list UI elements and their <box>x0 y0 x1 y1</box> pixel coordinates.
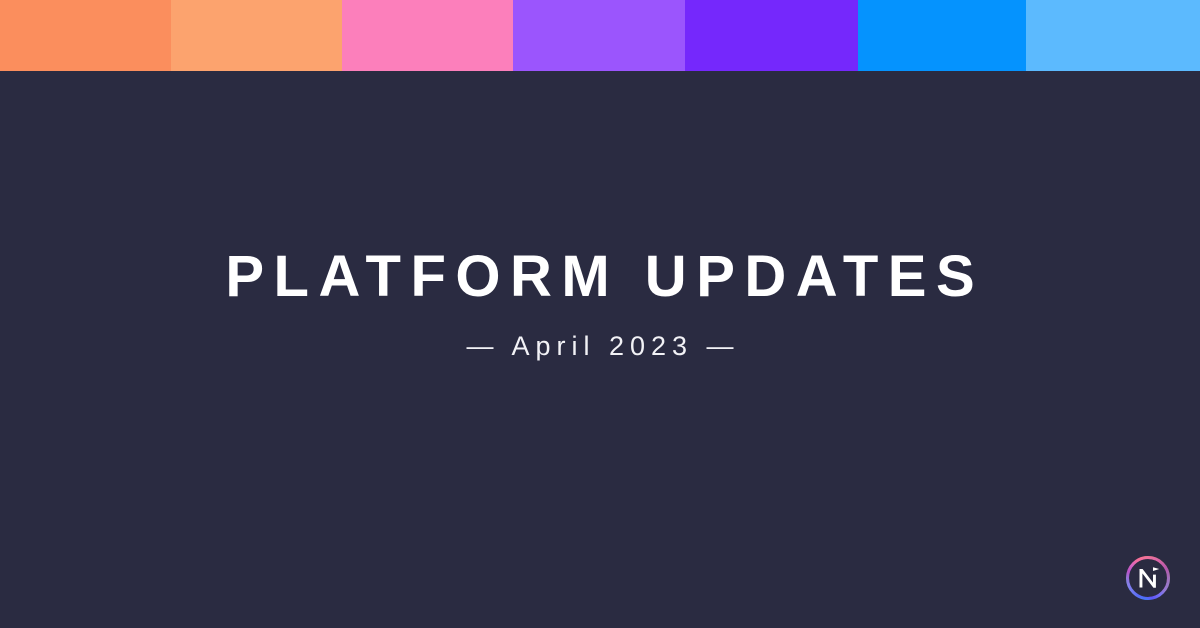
platform-updates-banner: PLATFORM UPDATES — April 2023 — <box>0 0 1200 628</box>
page-subtitle: — April 2023 — <box>460 332 739 362</box>
swatch-light-blue <box>1026 0 1200 71</box>
swatch-violet <box>685 0 858 71</box>
logo-icon <box>1124 554 1172 602</box>
swatch-light-orange <box>171 0 342 71</box>
color-strip <box>0 0 1200 71</box>
swatch-blue <box>858 0 1026 71</box>
headline-block: PLATFORM UPDATES — April 2023 — <box>0 71 1200 628</box>
swatch-pink <box>342 0 513 71</box>
swatch-purple <box>513 0 685 71</box>
swatch-orange <box>0 0 171 71</box>
logo-flag-accent <box>1153 567 1159 571</box>
netlify-n-logo <box>1124 554 1172 602</box>
logo-letter-n <box>1140 569 1156 588</box>
page-title: PLATFORM UPDATES <box>216 247 984 308</box>
